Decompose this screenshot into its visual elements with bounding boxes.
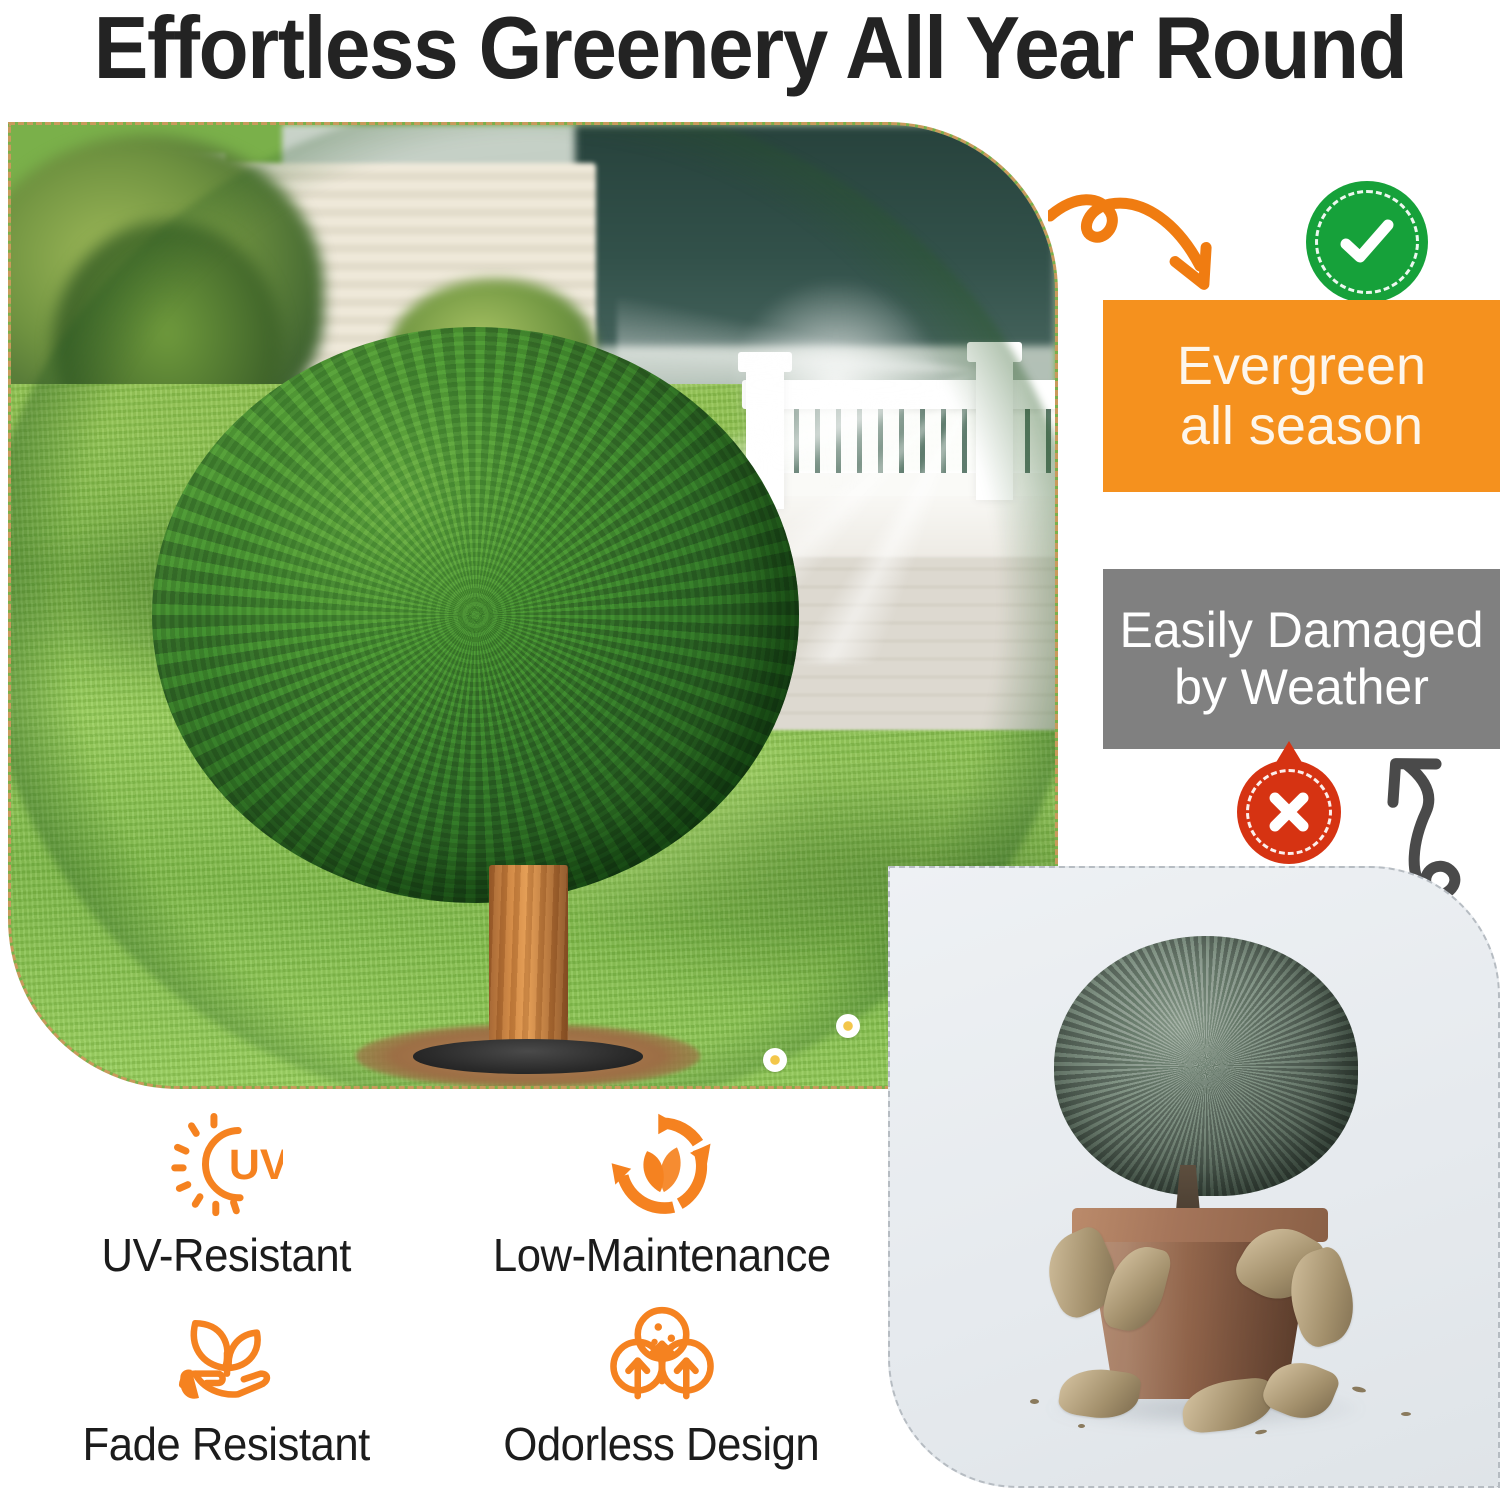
badge-line-2: all season — [1177, 396, 1426, 456]
dead-conifer-foliage — [1054, 936, 1358, 1196]
daisy-flower — [763, 1048, 787, 1072]
feature-grid: UV UV-Resistant Low-Maintenance — [14, 1110, 874, 1482]
fallen-debris — [1255, 1429, 1268, 1435]
curly-arrow-down-right-icon — [1048, 178, 1258, 308]
badge-line-1: Evergreen — [1177, 336, 1426, 396]
comparison-photo-dead-plant — [888, 866, 1500, 1488]
air-freshness-icon — [606, 1299, 718, 1411]
fallen-debris — [1401, 1412, 1411, 1416]
status-badge-weather-damage: Easily Damaged by Weather — [1103, 569, 1500, 749]
pin-circle — [1306, 181, 1428, 303]
feature-fade-resistant: Fade Resistant — [14, 1299, 439, 1482]
feature-label: UV-Resistant — [102, 1228, 351, 1282]
page-title: Effortless Greenery All Year Round — [53, 0, 1448, 102]
badge-line-1: Easily Damaged — [1119, 602, 1483, 659]
feature-label: Fade Resistant — [83, 1417, 370, 1471]
pin-dashed-ring — [1246, 769, 1332, 855]
daisy-flower — [836, 1014, 860, 1038]
pin-circle — [1237, 760, 1341, 864]
recycle-leaf-icon — [606, 1110, 718, 1222]
tree-trunk — [489, 865, 568, 1057]
badge-line-2: by Weather — [1119, 659, 1483, 716]
tree-base-disc — [413, 1039, 643, 1074]
svg-text:UV: UV — [228, 1141, 282, 1189]
hand-sprout-icon — [171, 1299, 283, 1411]
uv-sun-icon: UV — [171, 1110, 283, 1222]
check-circle-pin-icon — [1306, 181, 1428, 303]
feature-low-maintenance: Low-Maintenance — [449, 1110, 874, 1293]
fallen-debris — [1030, 1399, 1039, 1404]
x-circle-pin-icon — [1237, 760, 1341, 864]
feature-label: Low-Maintenance — [493, 1228, 831, 1282]
feature-uv-resistant: UV UV-Resistant — [14, 1110, 439, 1293]
status-badge-evergreen: Evergreen all season — [1103, 300, 1500, 492]
feature-odorless-design: Odorless Design — [449, 1299, 874, 1482]
dead-foliage-texture — [1054, 936, 1358, 1196]
pin-dashed-ring — [1315, 190, 1419, 294]
feature-label: Odorless Design — [504, 1417, 820, 1471]
